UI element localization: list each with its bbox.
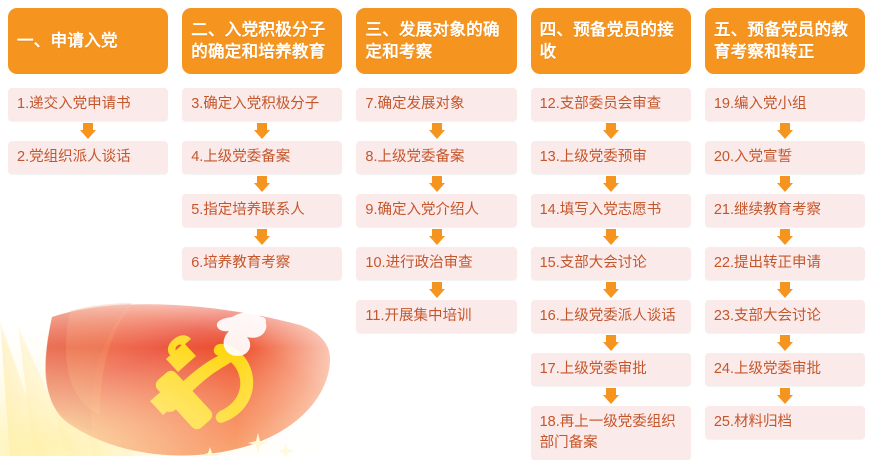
flow-step-label: 4.上级党委备案 (191, 147, 333, 168)
flow-step[interactable]: 12.支部委员会审查 (531, 88, 691, 121)
column-header-label: 五、预备党员的教育考察和转正 (714, 19, 856, 63)
arrow-down-icon (182, 227, 342, 247)
arrow-down-icon (705, 333, 865, 353)
flow-step[interactable]: 19.编入党小组 (705, 88, 865, 121)
flow-step-label: 13.上级党委预审 (540, 147, 682, 168)
flow-step[interactable]: 8.上级党委备案 (356, 141, 516, 174)
flow-step-label: 7.确定发展对象 (365, 94, 507, 115)
flow-step-label: 5.指定培养联系人 (191, 200, 333, 221)
flow-step-label: 17.上级党委审批 (540, 359, 682, 380)
flow-step-label: 15.支部大会讨论 (540, 253, 682, 274)
arrow-down-icon (531, 121, 691, 141)
flow-step-label: 19.编入党小组 (714, 94, 856, 115)
arrow-down-icon (705, 280, 865, 300)
column-header-1: 一、申请入党 (8, 8, 168, 74)
flow-step[interactable]: 20.入党宣誓 (705, 141, 865, 174)
step-list: 3.确定入党积极分子4.上级党委备案5.指定培养联系人6.培养教育考察 (182, 88, 342, 280)
arrow-down-icon (531, 333, 691, 353)
arrow-down-icon (531, 386, 691, 406)
step-list: 12.支部委员会审查13.上级党委预审14.填写入党志愿书15.支部大会讨论16… (531, 88, 691, 460)
arrow-down-icon (705, 227, 865, 247)
column-header-3: 三、发展对象的确定和考察 (356, 8, 516, 74)
step-list: 1.递交入党申请书2.党组织派人谈话 (8, 88, 168, 174)
arrow-down-icon (182, 121, 342, 141)
arrow-down-icon (356, 121, 516, 141)
flow-step-label: 20.入党宣誓 (714, 147, 856, 168)
flow-step[interactable]: 15.支部大会讨论 (531, 247, 691, 280)
flow-column-2: 二、入党积极分子的确定和培养教育3.确定入党积极分子4.上级党委备案5.指定培养… (182, 8, 342, 456)
flow-step-label: 6.培养教育考察 (191, 253, 333, 274)
flow-step[interactable]: 4.上级党委备案 (182, 141, 342, 174)
column-header-label: 一、申请入党 (17, 30, 118, 52)
flow-step-label: 14.填写入党志愿书 (540, 200, 682, 221)
arrow-down-icon (531, 174, 691, 194)
arrow-down-icon (531, 280, 691, 300)
flow-step[interactable]: 9.确定入党介绍人 (356, 194, 516, 227)
flow-step[interactable]: 23.支部大会讨论 (705, 300, 865, 333)
flow-step[interactable]: 11.开展集中培训 (356, 300, 516, 333)
flow-step-label: 18.再上一级党委组织部门备案 (540, 412, 682, 454)
flow-step[interactable]: 17.上级党委审批 (531, 353, 691, 386)
column-header-2: 二、入党积极分子的确定和培养教育 (182, 8, 342, 74)
column-header-4: 四、预备党员的接收 (531, 8, 691, 74)
arrow-down-icon (705, 386, 865, 406)
flow-step-label: 12.支部委员会审查 (540, 94, 682, 115)
flow-step[interactable]: 21.继续教育考察 (705, 194, 865, 227)
party-membership-flowchart: 一、申请入党1.递交入党申请书2.党组织派人谈话二、入党积极分子的确定和培养教育… (0, 0, 873, 456)
arrow-down-icon (8, 121, 168, 141)
flow-step-label: 9.确定入党介绍人 (365, 200, 507, 221)
flow-step[interactable]: 18.再上一级党委组织部门备案 (531, 406, 691, 460)
flow-step[interactable]: 5.指定培养联系人 (182, 194, 342, 227)
flow-step[interactable]: 3.确定入党积极分子 (182, 88, 342, 121)
arrow-down-icon (182, 174, 342, 194)
column-header-label: 三、发展对象的确定和考察 (365, 19, 507, 63)
column-header-5: 五、预备党员的教育考察和转正 (705, 8, 865, 74)
flow-column-4: 四、预备党员的接收12.支部委员会审查13.上级党委预审14.填写入党志愿书15… (531, 8, 691, 456)
arrow-down-icon (356, 174, 516, 194)
flow-step-label: 2.党组织派人谈话 (17, 147, 159, 168)
flow-column-1: 一、申请入党1.递交入党申请书2.党组织派人谈话 (8, 8, 168, 456)
flow-step[interactable]: 22.提出转正申请 (705, 247, 865, 280)
flow-step-label: 22.提出转正申请 (714, 253, 856, 274)
flow-step[interactable]: 2.党组织派人谈话 (8, 141, 168, 174)
flow-step[interactable]: 7.确定发展对象 (356, 88, 516, 121)
flow-step[interactable]: 6.培养教育考察 (182, 247, 342, 280)
step-list: 7.确定发展对象8.上级党委备案9.确定入党介绍人10.进行政治审查11.开展集… (356, 88, 516, 333)
flow-column-3: 三、发展对象的确定和考察7.确定发展对象8.上级党委备案9.确定入党介绍人10.… (356, 8, 516, 456)
column-header-label: 四、预备党员的接收 (540, 19, 682, 63)
flow-step[interactable]: 1.递交入党申请书 (8, 88, 168, 121)
column-header-label: 二、入党积极分子的确定和培养教育 (191, 19, 333, 63)
arrow-down-icon (705, 121, 865, 141)
flow-step[interactable]: 10.进行政治审查 (356, 247, 516, 280)
flow-step[interactable]: 14.填写入党志愿书 (531, 194, 691, 227)
flow-step-label: 16.上级党委派人谈话 (540, 306, 682, 327)
flow-step[interactable]: 16.上级党委派人谈话 (531, 300, 691, 333)
flow-step[interactable]: 24.上级党委审批 (705, 353, 865, 386)
flow-step-label: 24.上级党委审批 (714, 359, 856, 380)
flow-step-label: 8.上级党委备案 (365, 147, 507, 168)
flow-step-label: 1.递交入党申请书 (17, 94, 159, 115)
arrow-down-icon (705, 174, 865, 194)
flow-step[interactable]: 25.材料归档 (705, 406, 865, 439)
flow-step-label: 25.材料归档 (714, 412, 856, 433)
flow-step-label: 23.支部大会讨论 (714, 306, 856, 327)
flow-step-label: 3.确定入党积极分子 (191, 94, 333, 115)
flow-column-5: 五、预备党员的教育考察和转正19.编入党小组20.入党宣誓21.继续教育考察22… (705, 8, 865, 456)
flow-step-label: 21.继续教育考察 (714, 200, 856, 221)
arrow-down-icon (356, 227, 516, 247)
step-list: 19.编入党小组20.入党宣誓21.继续教育考察22.提出转正申请23.支部大会… (705, 88, 865, 439)
arrow-down-icon (356, 280, 516, 300)
arrow-down-icon (531, 227, 691, 247)
flow-step-label: 11.开展集中培训 (365, 306, 507, 327)
flow-step[interactable]: 13.上级党委预审 (531, 141, 691, 174)
flow-step-label: 10.进行政治审查 (365, 253, 507, 274)
